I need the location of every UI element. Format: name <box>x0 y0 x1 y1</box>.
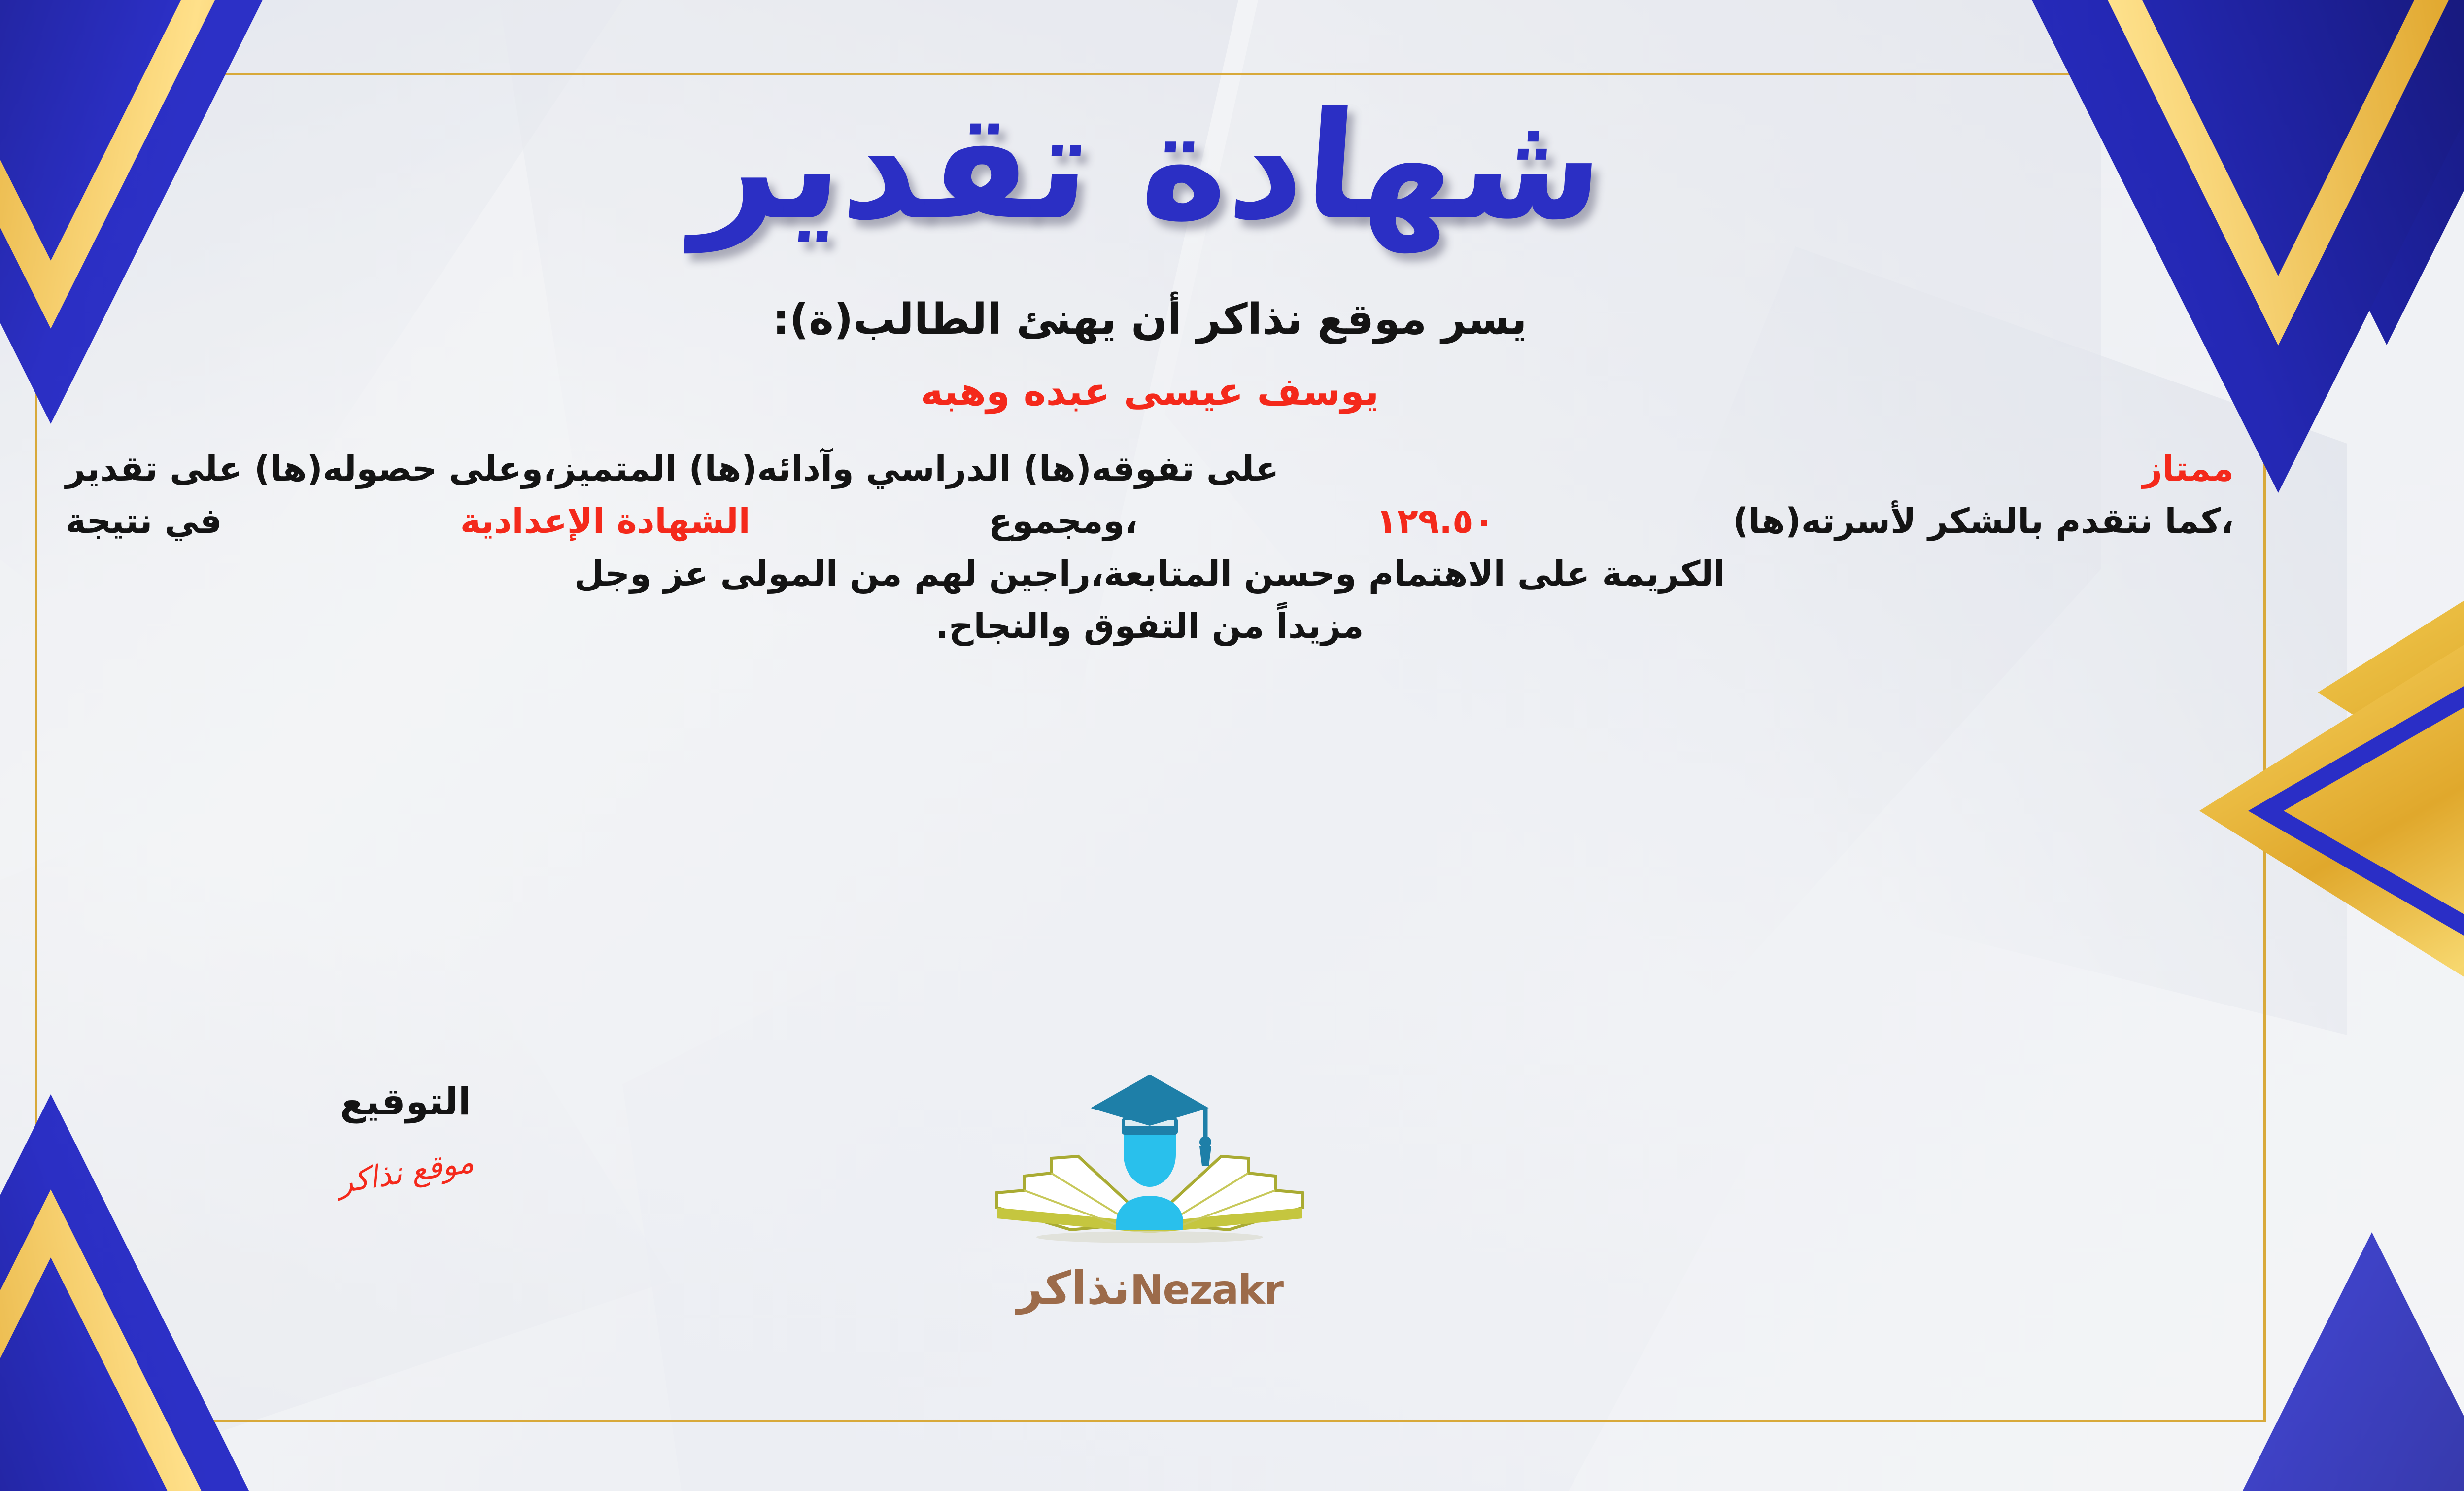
body-line-3: الكريمة على الاهتمام وحسن المتابعة،راجين… <box>66 548 2234 600</box>
body-line-2-tail: ،كما نتقدم بالشكر لأسرته(ها) <box>1733 495 2234 547</box>
frame-border-bottom-right <box>1768 1420 2266 1422</box>
certificate-body: ممتاز على تفوقه(ها) الدراسي وآدائه(ها) ا… <box>46 443 2254 653</box>
tassel <box>1199 1146 1211 1166</box>
logo-wordmark-arabic: نذاكر <box>1017 1262 1130 1315</box>
body-line-4: مزيداً من التفوق والنجاح. <box>66 600 2234 652</box>
greeting-line: يسر موقع نذاكر أن يهنئ الطالب(ة): <box>46 295 2254 344</box>
grade-value: ممتاز <box>2143 443 2234 495</box>
graduate-head <box>1124 1129 1176 1187</box>
certificate-content: شهادة تقدير يسر موقع نذاكر أن يهنئ الطال… <box>46 79 2254 1410</box>
logo-wordmark-latin: Nezakr <box>1130 1267 1283 1314</box>
mortarboard-top <box>1091 1075 1209 1126</box>
body-line-2: ،كما نتقدم بالشكر لأسرته(ها) ١٢٩.٥٠ ،ومج… <box>66 495 2234 547</box>
body-line-2-mid: ،ومجموع <box>989 495 1138 547</box>
frame-border-bottom <box>36 1420 1771 1422</box>
graduate-book-icon <box>977 1060 1322 1267</box>
total-score-value: ١٢٩.٥٠ <box>1376 495 1494 547</box>
signature-block: التوقيع موقع نذاكر <box>228 1079 583 1190</box>
certificate-page: شهادة تقدير يسر موقع نذاكر أن يهنئ الطال… <box>0 0 2464 1491</box>
nezakr-logo: Nezakrنذاكر <box>977 1060 1322 1315</box>
frame-border-top <box>36 73 1771 75</box>
body-line-1: ممتاز على تفوقه(ها) الدراسي وآدائه(ها) ا… <box>66 443 2234 495</box>
student-name: يوسف عيسى عبده وهبه <box>46 370 2254 414</box>
signature-script: موقع نذاكر <box>335 1144 476 1201</box>
body-line-2-head: في نتيجة <box>66 495 222 547</box>
exam-name-value: الشهادة الإعدادية <box>460 495 751 547</box>
logo-wordmark: Nezakrنذاكر <box>977 1262 1322 1315</box>
certificate-title: شهادة تقدير <box>41 93 2259 241</box>
body-line-1-text: على تفوقه(ها) الدراسي وآدائه(ها) المتميز… <box>66 443 1279 495</box>
signature-label: التوقيع <box>228 1079 583 1123</box>
signature-and-logo-zone: التوقيع موقع نذاكر <box>46 1060 2254 1375</box>
